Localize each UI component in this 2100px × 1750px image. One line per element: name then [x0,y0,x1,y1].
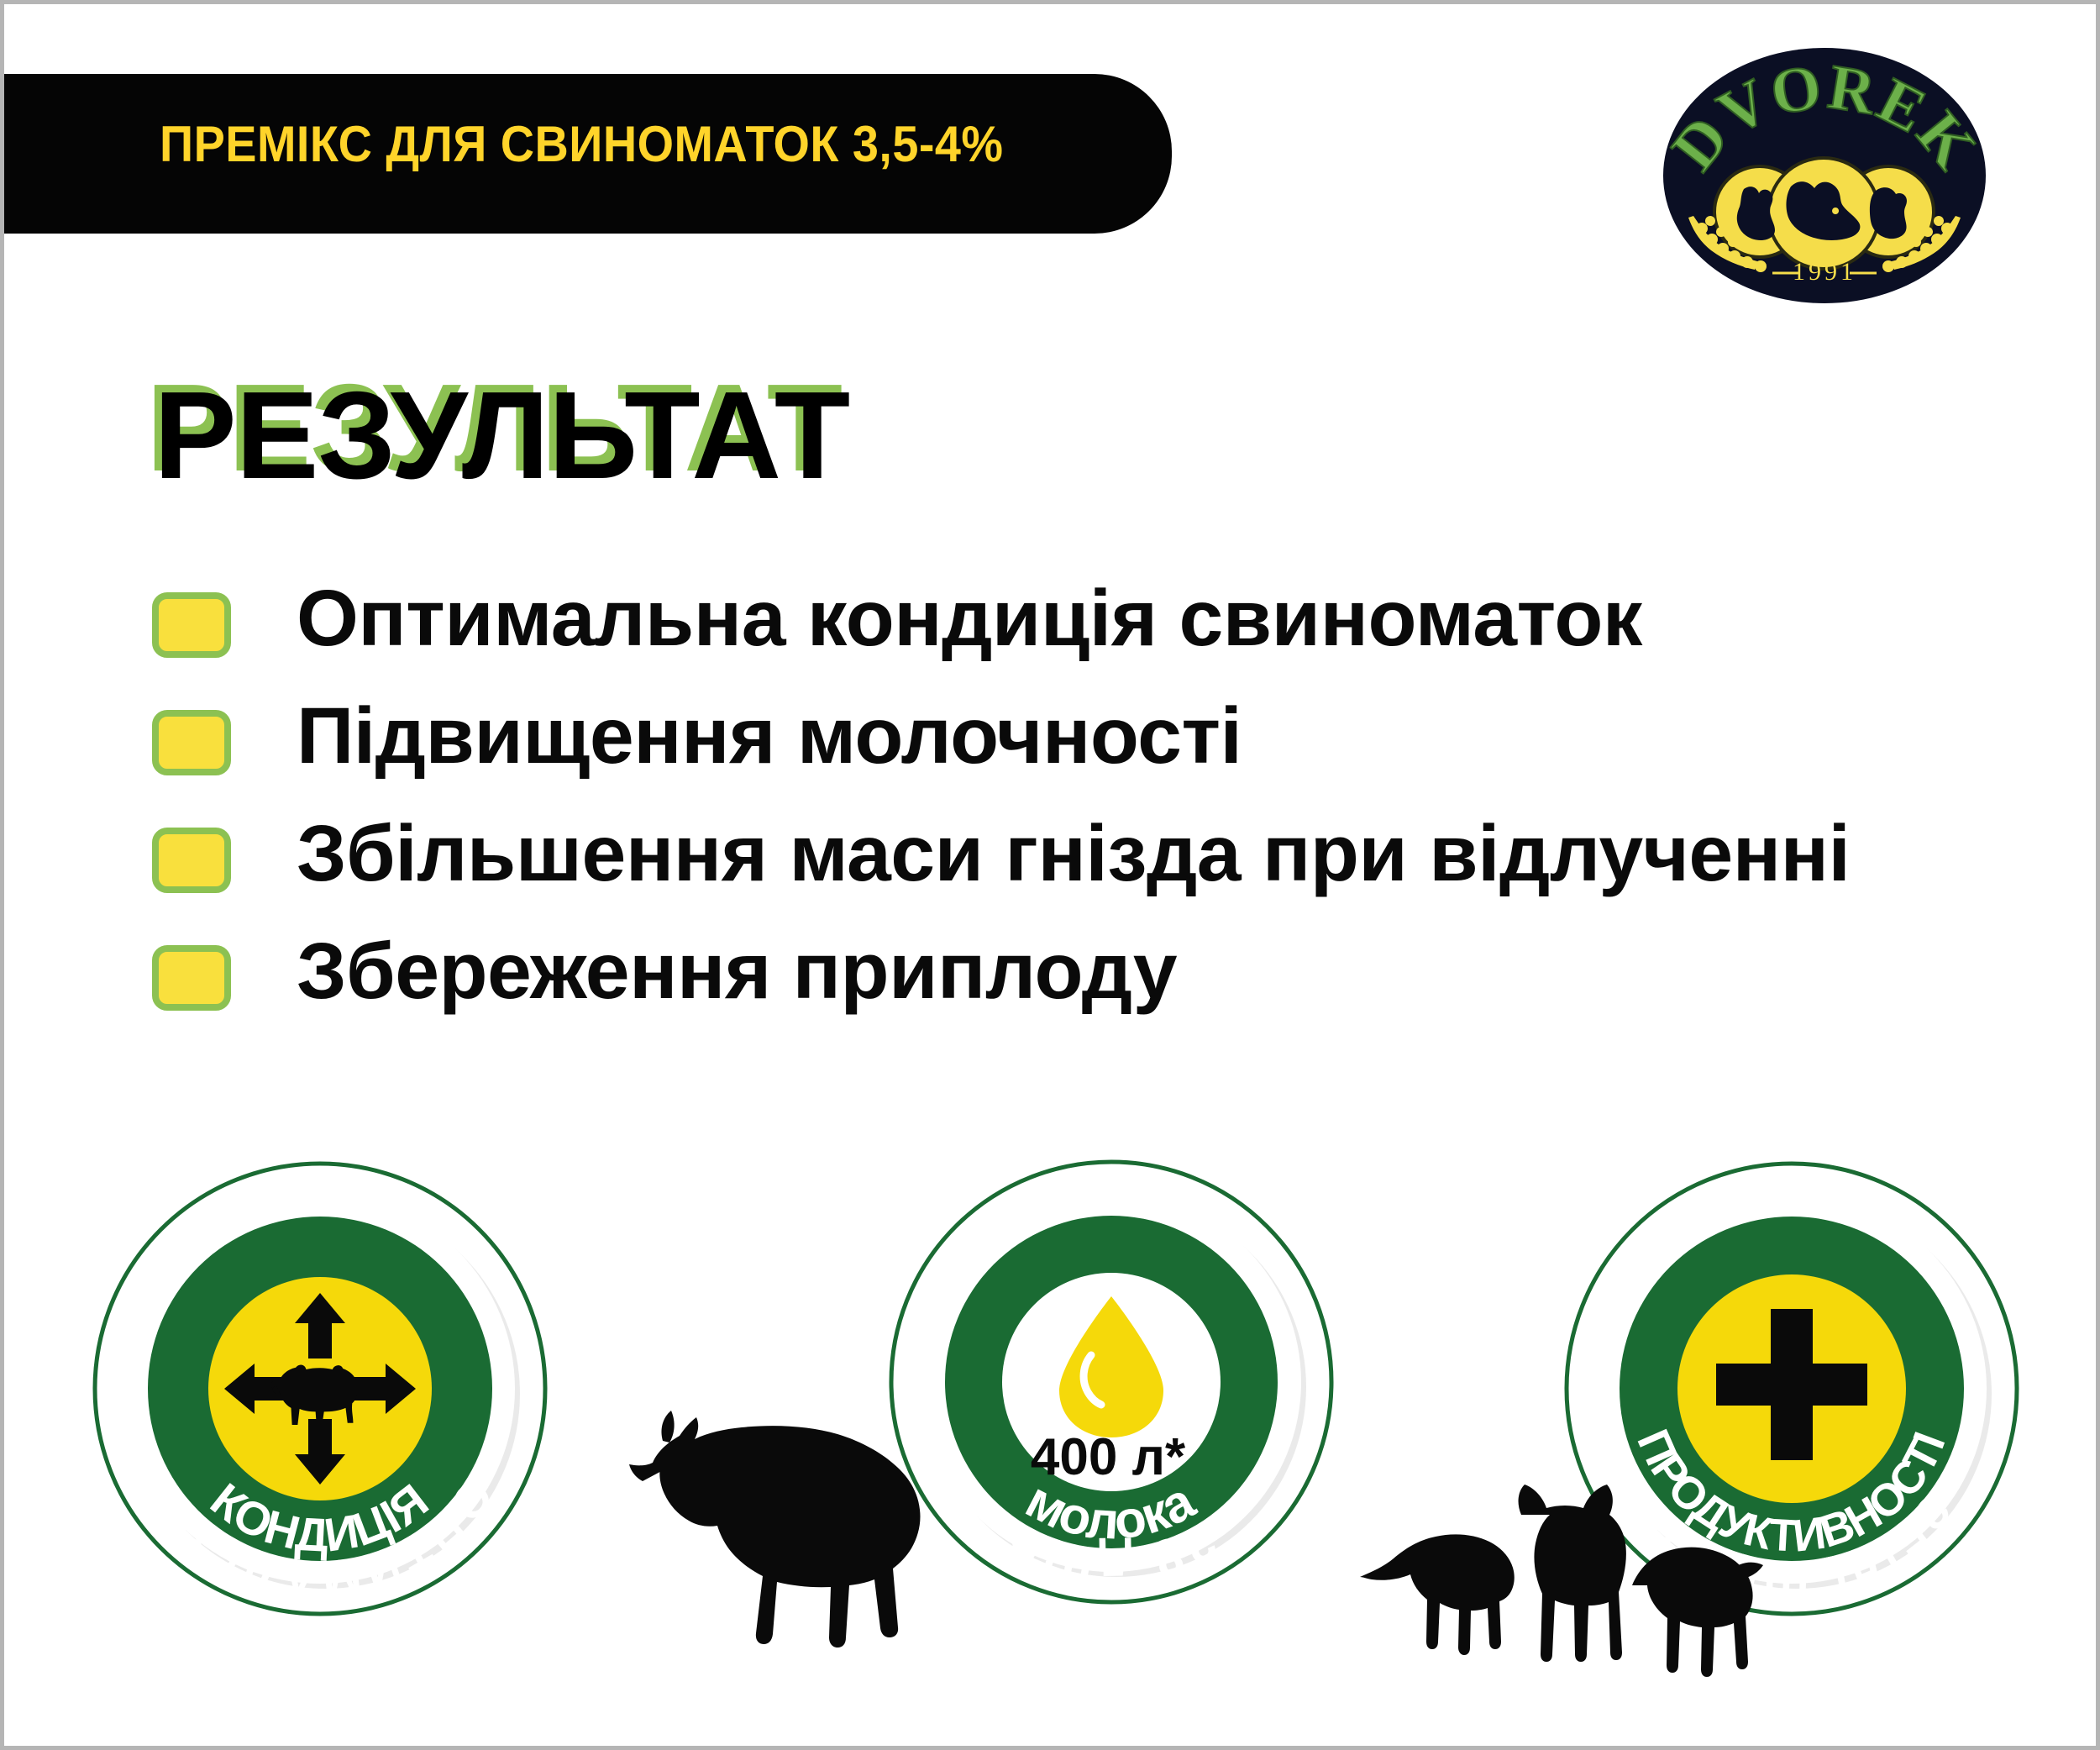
list-item: Підвищення молочності [152,702,2017,819]
badge-center-value: 400 л* [1031,1428,1186,1486]
logo-year: 1991 [1793,258,1856,286]
bullet-marker-icon [152,828,231,893]
bullet-marker-icon [152,710,231,775]
header-banner: ПРЕМІКС ДЛЯ СВИНОМАТОК 3,5-4% [0,74,1172,234]
piglets-silhouette [1348,1424,1802,1722]
brand-logo[interactable]: DVOREK [1663,48,1987,304]
list-item: Оптимальна кондиція свиноматок [152,584,2017,702]
bullet-marker-icon [152,592,231,658]
list-item: Збереження приплоду [152,937,2017,1054]
logo-chicken-silhouette [1737,187,1775,240]
slide-canvas: ПРЕМІКС ДЛЯ СВИНОМАТОК 3,5-4% DVOREK [0,0,2100,1750]
badge-optimal-condition: ОПТИМАЛЬНА КОНДИЦІЯ [76,1145,564,1632]
logo-pig-silhouette [1870,187,1907,239]
header-banner-title: ПРЕМІКС ДЛЯ СВИНОМАТОК 3,5-4% [160,115,1004,173]
results-bullet-list: Оптимальна кондиція свиноматок Підвищенн… [152,584,2017,1054]
list-item: Збільшення маси гнізда при відлученні [152,819,2017,937]
page-title: РЕЗУЛЬТАТ [154,374,849,498]
list-item-label: Оптимальна кондиція свиноматок [297,569,1642,669]
list-item-label: Збільшення маси гнізда при відлученні [297,804,1850,904]
bullet-marker-icon [152,945,231,1011]
sow-silhouette [592,1347,1029,1704]
list-item-label: Збереження приплоду [297,922,1177,1022]
list-item-label: Підвищення молочності [297,686,1242,786]
